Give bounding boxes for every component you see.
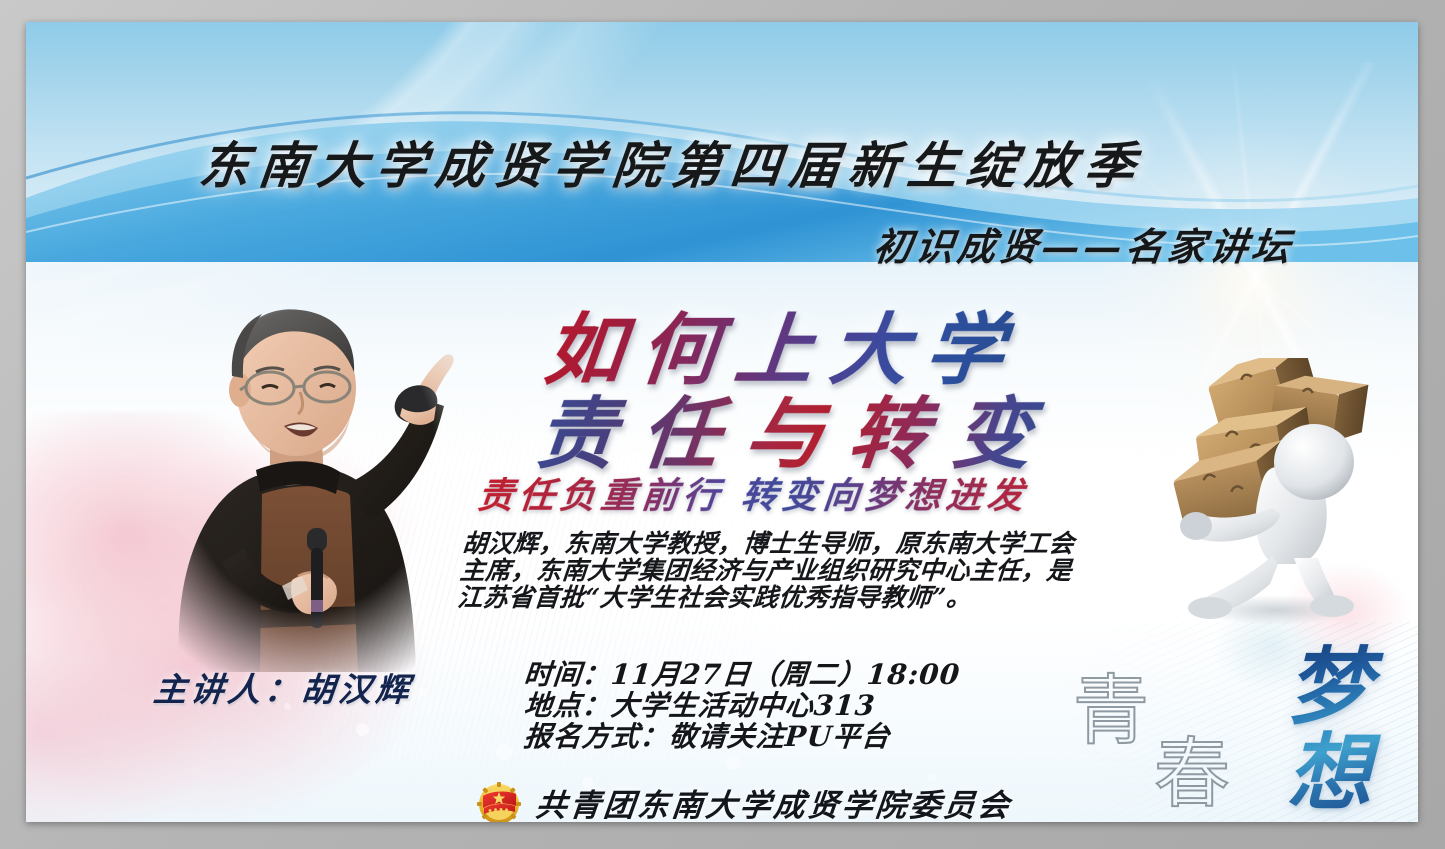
footer-organization: 共青团东南大学成贤学院委员会 bbox=[534, 780, 1015, 822]
decorative-char-chun: 春 bbox=[1154, 712, 1230, 822]
decorative-char-qing: 青 bbox=[1073, 649, 1149, 759]
speaker-photo bbox=[144, 280, 474, 672]
bokeh-dot bbox=[726, 756, 740, 770]
figure-carrying-boxes bbox=[1154, 358, 1392, 626]
speaker-label: 主讲人：胡汉辉 bbox=[151, 663, 415, 711]
speaker-bio: 胡汉辉，东南大学教授，博士生导师，原东南大学工会主席，东南大学集团经济与产业组织… bbox=[456, 530, 1075, 611]
tagline: 责任负重前行 转变向梦想进发 bbox=[475, 467, 1031, 519]
event-detail-time: 时间：11月27日（周二）18:00 bbox=[523, 659, 962, 690]
bokeh-dot bbox=[496, 744, 512, 760]
bokeh-dot bbox=[356, 723, 369, 736]
page-subtitle: 初识成贤——名家讲坛 bbox=[871, 216, 1298, 271]
communist-youth-league-emblem bbox=[476, 781, 522, 823]
poster-canvas: 东南大学成贤学院第四届新生绽放季 初识成贤——名家讲坛 如何上大学 责任与转变 … bbox=[26, 22, 1418, 822]
page-title: 东南大学成贤学院第四届新生绽放季 bbox=[168, 126, 1176, 198]
footer: 共青团东南大学成贤学院委员会 bbox=[476, 780, 1012, 822]
poster-frame: 东南大学成贤学院第四届新生绽放季 初识成贤——名家讲坛 如何上大学 责任与转变 … bbox=[0, 0, 1445, 849]
event-detail-place: 地点：大学生活动中心313 bbox=[523, 690, 962, 721]
bokeh-dot bbox=[418, 687, 427, 696]
event-details: 时间：11月27日（周二）18:00 地点：大学生活动中心313 报名方式：敬请… bbox=[524, 659, 960, 752]
event-detail-signup: 报名方式：敬请关注PU平台 bbox=[523, 721, 962, 752]
decorative-chars-dream: 梦想 bbox=[1274, 644, 1384, 816]
